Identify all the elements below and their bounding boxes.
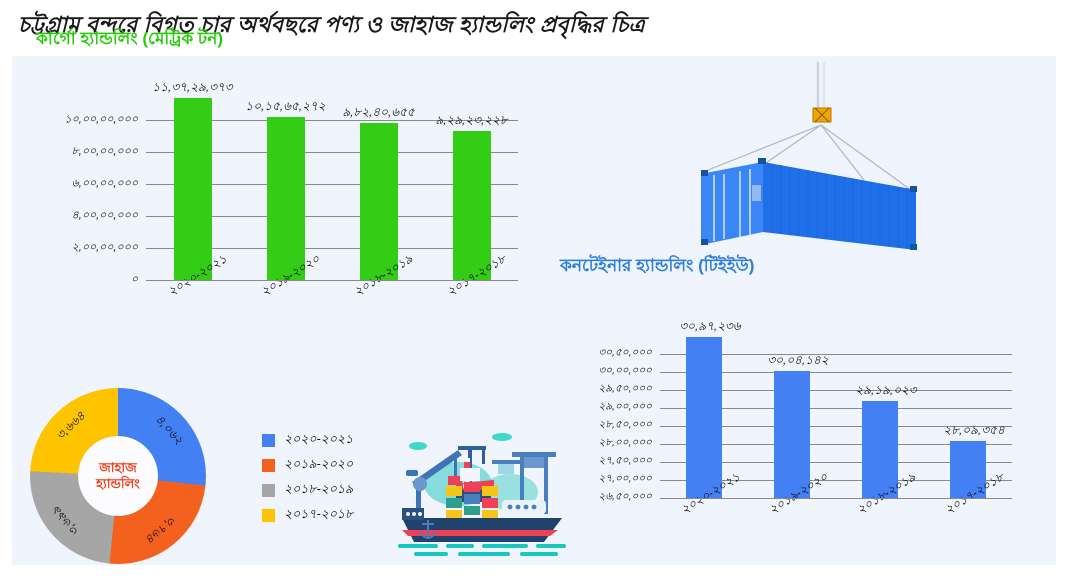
bar [453, 131, 491, 280]
ship-handling-legend: ২০২০-২০২১২০১৯-২০২০২০১৮-২০১৯২০১৭-২০১৮ [262, 428, 382, 528]
bar [267, 117, 305, 280]
cargo-chart-title: কার্গো হ্যান্ডলিং (মেট্রিক টন) [36, 26, 223, 54]
bar [174, 98, 212, 280]
y-axis-tick-label: ২৯,০০,০০০ [532, 400, 652, 417]
bar-value-label: ৯,২৯,২৩,২২৮ [435, 112, 507, 132]
port-ship-illustration [398, 424, 574, 564]
bar-value-label: ৯,৮২,৪০,৬৫৫ [342, 104, 414, 124]
legend-swatch [262, 459, 275, 472]
donut-center-label: জাহাজ হ্যান্ডলিং [78, 436, 158, 516]
bar-value-label: ২৮,০৯,৩৫৪ [943, 422, 1004, 442]
ship-handling-donut-chart: জাহাজ হ্যান্ডলিং ৪,০৬২৩,৭৬৪৩,৬৯৯৩,৬৬৪ [30, 388, 210, 564]
legend-swatch [262, 509, 275, 522]
cargo-plot-area: ০২,০০,০০,০০০৪,০০,০০,০০০৬,০০,০০,০০০৮,০০,০… [146, 88, 518, 280]
x-axis-line [660, 498, 1012, 499]
legend-swatch [262, 434, 275, 447]
y-axis-tick-label: ২৯,৫০,০০০ [532, 382, 652, 399]
x-axis-line [146, 280, 518, 281]
y-axis-tick-label: ৮,০০,০০,০০০ [18, 143, 138, 162]
infographic-page: চট্টগ্রাম বন্দরে বিগত চার অর্থবছরে পণ্য … [0, 0, 1068, 580]
legend-label: ২০১৭-২০১৮ [284, 506, 353, 526]
donut-center-line2: হ্যান্ডলিং [96, 476, 140, 492]
legend-item: ২০২০-২০২১ [262, 428, 382, 453]
y-axis-tick-label: ১০,০০,০০,০০০ [18, 111, 138, 130]
y-axis-tick-label: ৪,০০,০০,০০০ [18, 207, 138, 226]
legend-swatch [262, 484, 275, 497]
bar-value-label: ৩০,৯৭,২৩৬ [679, 318, 740, 338]
y-axis-tick-label: ২,০০,০০,০০০ [18, 239, 138, 258]
legend-label: ২০১৮-২০১৯ [284, 481, 353, 501]
y-axis-tick-label: ৬,০০,০০,০০০ [18, 175, 138, 194]
legend-label: ২০২০-২০২১ [284, 431, 353, 451]
legend-label: ২০১৯-২০২০ [284, 456, 353, 476]
bar-value-label: ১১,৩৭,২৯,৩৭৩ [152, 79, 232, 99]
y-axis-tick-label: ৩০,০০,০০০ [532, 364, 652, 381]
y-axis-tick-label: ০ [18, 271, 138, 290]
legend-item: ২০১৯-২০২০ [262, 453, 382, 478]
donut-center-line1: জাহাজ [99, 460, 137, 476]
shipping-container-illustration [668, 62, 998, 277]
container-chart-title: কনটেইনার হ্যান্ডলিং (টিইইউ) [560, 253, 754, 281]
bar-value-label: ২৯,১৯,০২৩ [855, 382, 916, 402]
y-axis-tick-label: ৩০,৫০,০০০ [532, 346, 652, 363]
cargo-handling-chart: ০২,০০,০০,০০০৪,০০,০০,০০০৬,০০,০০,০০০৮,০০,০… [36, 60, 526, 310]
bar [360, 123, 398, 280]
bar-value-label: ৩০,০৪,১৪২ [767, 352, 828, 372]
bar-value-label: ১০,১৫,৬৫,২৭২ [245, 98, 325, 118]
legend-item: ২০১৭-২০১৮ [262, 503, 382, 528]
bar [686, 337, 722, 498]
container-plot-area: ২৬,৫০,০০০২৭,০০,০০০২৭,৫০,০০০২৮,০০,০০০২৮,৫… [660, 318, 1012, 498]
container-handling-chart: ২৬,৫০,০০০২৭,০০,০০০২৭,৫০,০০০২৮,০০,০০০২৮,৫… [560, 288, 1030, 548]
legend-item: ২০১৮-২০১৯ [262, 478, 382, 503]
